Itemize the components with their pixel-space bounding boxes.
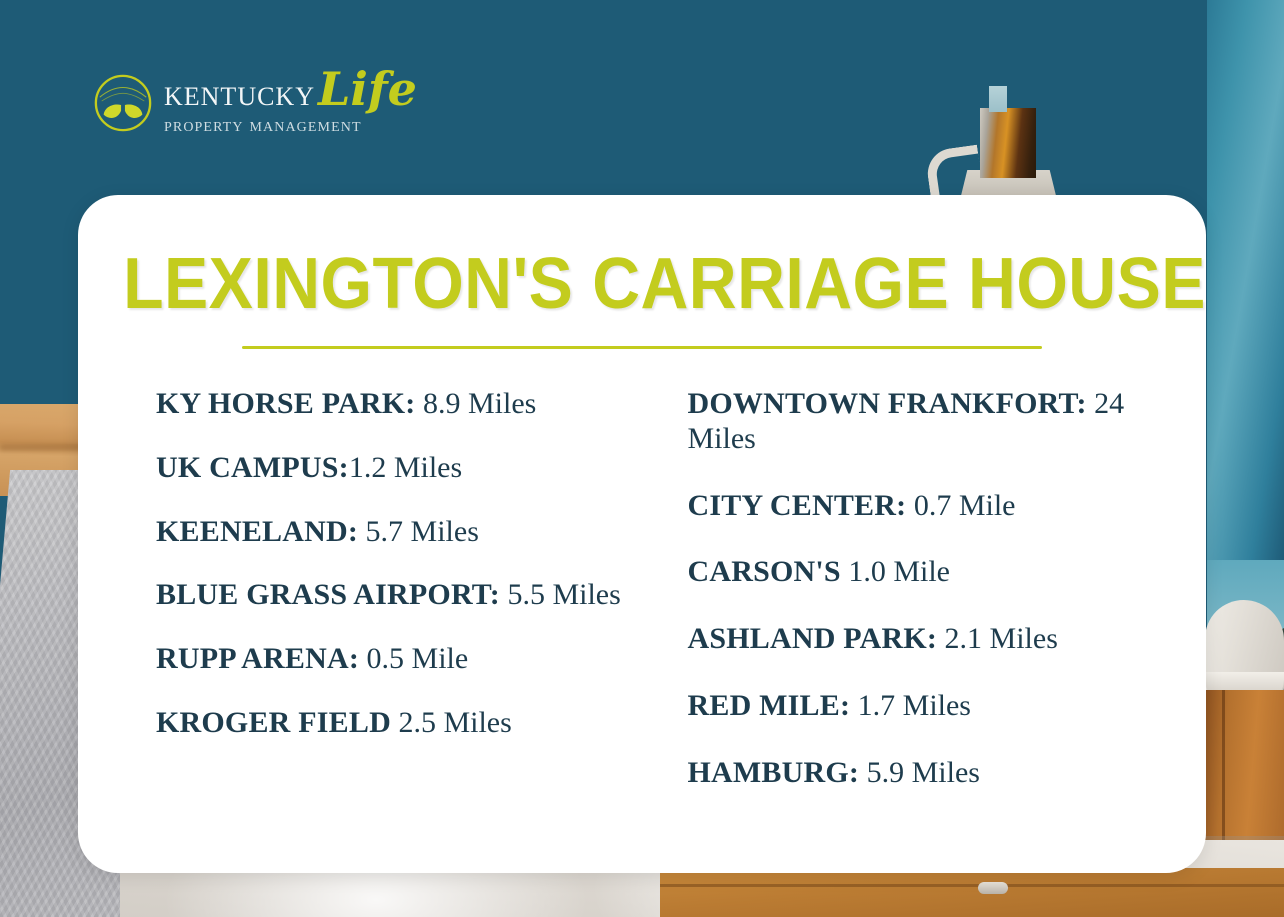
list-item-value: 8.9 Miles — [415, 387, 536, 420]
list-item-label: ASHLAND PARK: — [688, 622, 938, 655]
list-item-value: 0.7 Mile — [906, 489, 1015, 522]
list-item-label: BLUE GRASS AIRPORT: — [156, 578, 500, 611]
list-item-label: CARSON'S — [688, 555, 841, 588]
title-divider — [242, 346, 1042, 349]
dresser-knob — [978, 882, 1008, 894]
list-item: DOWNTOWN FRANKFORT: 24 Miles — [688, 387, 1165, 457]
wall-corner-right — [1207, 0, 1284, 600]
list-item: ASHLAND PARK: 2.1 Miles — [688, 622, 1165, 657]
list-item-label: HAMBURG: — [688, 756, 860, 789]
brand-wordmark: Kentucky Life Property Management — [164, 70, 417, 136]
list-item-label: KROGER FIELD — [156, 706, 391, 739]
brand-name-primary: Kentucky — [164, 75, 315, 112]
list-item: BLUE GRASS AIRPORT: 5.5 Miles — [156, 578, 633, 613]
promo-graphic: Kentucky Life Property Management LEXING… — [0, 0, 1284, 917]
page-title: LEXINGTON'S CARRIAGE HOUSE — [123, 248, 1161, 320]
list-item: HAMBURG: 5.9 Miles — [688, 756, 1165, 791]
list-item-label: DOWNTOWN FRANKFORT: — [688, 387, 1087, 420]
list-item-value: 1.0 Mile — [841, 555, 950, 588]
info-card: LEXINGTON'S CARRIAGE HOUSE KY HORSE PARK… — [78, 195, 1206, 873]
list-item-value: 2.1 Miles — [937, 622, 1058, 655]
wood-dresser — [660, 868, 1284, 917]
list-item-value: 1.7 Miles — [850, 689, 971, 722]
list-item: KROGER FIELD 2.5 Miles — [156, 706, 633, 741]
leaf-circle-logo-icon — [92, 72, 154, 134]
distance-list: KY HORSE PARK: 8.9 Miles UK CAMPUS:1.2 M… — [78, 387, 1206, 823]
list-item: CARSON'S 1.0 Mile — [688, 555, 1165, 590]
list-item-value: 5.5 Miles — [500, 578, 621, 611]
distance-column-right: DOWNTOWN FRANKFORT: 24 Miles CITY CENTER… — [633, 387, 1165, 823]
list-item: KEENELAND: 5.7 Miles — [156, 515, 633, 550]
list-item-value: 5.9 Miles — [859, 756, 980, 789]
list-item-label: RED MILE: — [688, 689, 851, 722]
list-item-label: RUPP ARENA: — [156, 642, 359, 675]
brand-name-script: Life — [318, 66, 417, 112]
list-item-value: 1.2 Miles — [349, 451, 462, 484]
brand-logo: Kentucky Life Property Management — [92, 70, 417, 136]
list-item: CITY CENTER: 0.7 Mile — [688, 489, 1165, 524]
list-item-label: KY HORSE PARK: — [156, 387, 415, 420]
list-item-value: 2.5 Miles — [391, 706, 512, 739]
list-item-value: 5.7 Miles — [358, 515, 479, 548]
brand-tagline: Property Management — [164, 116, 417, 136]
list-item: UK CAMPUS:1.2 Miles — [156, 451, 633, 486]
wood-dresser-seam — [660, 884, 1284, 887]
list-item: RED MILE: 1.7 Miles — [688, 689, 1165, 724]
oil-diffuser-body — [980, 108, 1036, 178]
oil-diffuser-neck — [989, 86, 1007, 112]
list-item-label: UK CAMPUS: — [156, 451, 349, 484]
list-item-label: KEENELAND: — [156, 515, 358, 548]
distance-column-left: KY HORSE PARK: 8.9 Miles UK CAMPUS:1.2 M… — [156, 387, 633, 823]
list-item: KY HORSE PARK: 8.9 Miles — [156, 387, 633, 422]
list-item-value: 0.5 Mile — [359, 642, 468, 675]
list-item-label: CITY CENTER: — [688, 489, 907, 522]
list-item: RUPP ARENA: 0.5 Mile — [156, 642, 633, 677]
